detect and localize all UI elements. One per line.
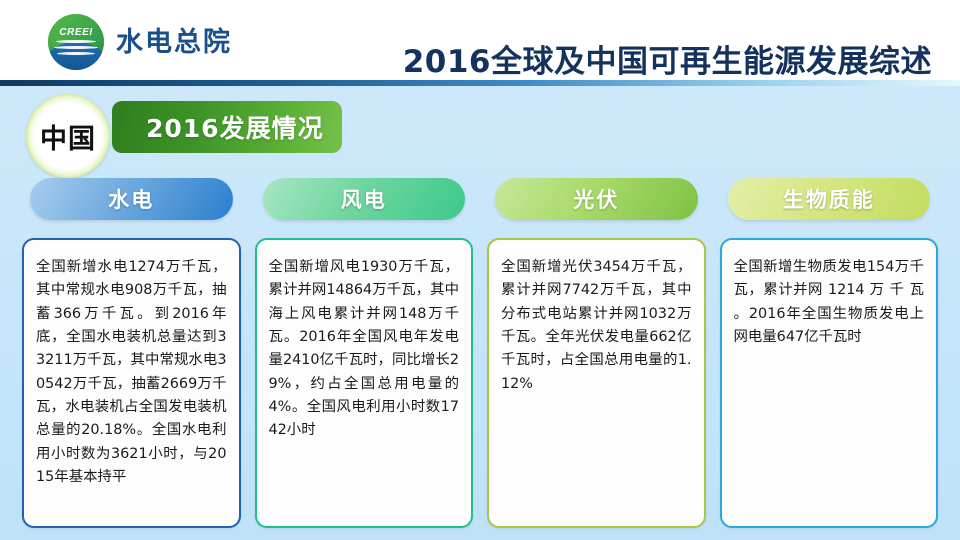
- creei-logo-icon: CREEI: [48, 14, 104, 70]
- card-body-text: 全国新增光伏3454万千瓦，累计并网7742万千瓦，其中分布式电站累计并网103…: [501, 256, 692, 396]
- category-pill-label: 光伏: [573, 184, 619, 214]
- category-pill-hydropower[interactable]: 水电: [30, 178, 233, 220]
- category-pill-wind[interactable]: 风电: [263, 178, 466, 220]
- logo-wave-icon: [56, 40, 96, 43]
- content-card-hydropower: 全国新增水电1274万千瓦，其中常规水电908万千瓦，抽蓄366万千瓦。到201…: [22, 238, 241, 528]
- header-divider: [0, 80, 960, 86]
- region-badge: 中国: [26, 94, 110, 178]
- region-badge-label: 中国: [40, 117, 96, 156]
- slide-header: CREEI 水电总院 2016全球及中国可再生能源发展综述: [0, 0, 960, 80]
- energy-columns: 水电 全国新增水电1274万千瓦，其中常规水电908万千瓦，抽蓄366万千瓦。到…: [22, 178, 938, 528]
- organization-name: 水电总院: [116, 29, 232, 56]
- logo-wave-icon: [57, 52, 95, 55]
- section-banner-label: 2016发展情况: [146, 109, 324, 145]
- card-body-text: 全国新增生物质发电154万千瓦，累计并网 1214 万 千 瓦 。2016年全国…: [734, 256, 925, 349]
- section-banner: 2016发展情况: [112, 101, 342, 153]
- logo-wordmark: CREEI: [48, 27, 104, 38]
- category-pill-biomass[interactable]: 生物质能: [728, 178, 931, 220]
- category-pill-solar-pv[interactable]: 光伏: [495, 178, 698, 220]
- column-biomass: 生物质能 全国新增生物质发电154万千瓦，累计并网 1214 万 千 瓦 。20…: [720, 178, 939, 528]
- column-hydropower: 水电 全国新增水电1274万千瓦，其中常规水电908万千瓦，抽蓄366万千瓦。到…: [22, 178, 241, 528]
- card-body-text: 全国新增水电1274万千瓦，其中常规水电908万千瓦，抽蓄366万千瓦。到201…: [36, 256, 227, 489]
- slide-root: CREEI 水电总院 2016全球及中国可再生能源发展综述 2016发展情况 中…: [0, 0, 960, 540]
- card-body-text: 全国新增风电1930万千瓦，累计并网14864万千瓦，其中海上风电累计并网148…: [269, 256, 460, 443]
- content-card-biomass: 全国新增生物质发电154万千瓦，累计并网 1214 万 千 瓦 。2016年全国…: [720, 238, 939, 528]
- brand-logo: CREEI 水电总院: [48, 14, 232, 70]
- column-wind: 风电 全国新增风电1930万千瓦，累计并网14864万千瓦，其中海上风电累计并网…: [255, 178, 474, 528]
- category-pill-label: 水电: [108, 184, 154, 214]
- page-title: 2016全球及中国可再生能源发展综述: [403, 36, 932, 81]
- category-pill-label: 风电: [341, 184, 387, 214]
- column-solar-pv: 光伏 全国新增光伏3454万千瓦，累计并网7742万千瓦，其中分布式电站累计并网…: [487, 178, 706, 528]
- category-pill-label: 生物质能: [783, 184, 875, 214]
- content-card-solar-pv: 全国新增光伏3454万千瓦，累计并网7742万千瓦，其中分布式电站累计并网103…: [487, 238, 706, 528]
- content-card-wind: 全国新增风电1930万千瓦，累计并网14864万千瓦，其中海上风电累计并网148…: [255, 238, 474, 528]
- logo-wave-icon: [54, 46, 98, 49]
